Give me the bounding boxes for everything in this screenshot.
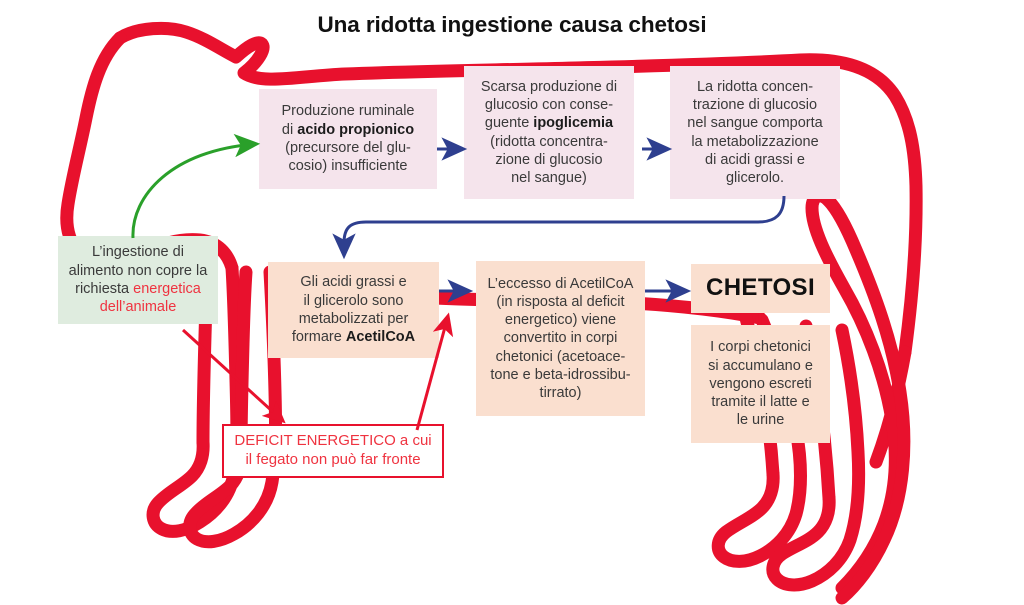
ipo-line-1: Scarsa produzione di [481, 78, 617, 96]
acido-propionico-term: acido propionico [297, 122, 414, 138]
acido-line-1: Produzione ruminale [282, 102, 415, 120]
ingestione-line-4: dell’animale [100, 298, 177, 316]
metab-line-1: La ridotta concen- [697, 78, 813, 96]
ipo-line-6: nel sangue) [511, 169, 587, 187]
escr-line-4: tramite il latte e [711, 393, 809, 411]
ipo-line-3-plain: guente [485, 115, 533, 131]
ipoglicemia-term: ipoglicemia [533, 115, 613, 131]
box-corpi-chetonici: L’eccesso di AcetilCoA (in risposta al d… [476, 261, 645, 416]
corpi-line-3: energetico) viene [505, 311, 616, 329]
acido-line-4: cosio) insufficiente [288, 157, 407, 175]
box-metabolizzazione: La ridotta concen- trazione di glucosio … [670, 66, 840, 199]
escr-line-1: I corpi chetonici [710, 338, 811, 356]
corpi-line-5: chetonici (acetoace- [496, 348, 626, 366]
escr-line-2: si accumulano e [708, 357, 813, 375]
ingestione-line-1: L’ingestione di [92, 243, 184, 261]
corpi-line-2: (in risposta al deficit [496, 293, 624, 311]
corpi-line-1: L’eccesso di AcetilCoA [488, 275, 634, 293]
acido-line-2-plain: di [282, 122, 297, 138]
acetilcoa-term: AcetilCoA [346, 329, 415, 345]
box-chetosi: CHETOSI [691, 264, 830, 313]
box-acetilcoa: Gli acidi grassi e il glicerolo sono met… [268, 262, 439, 358]
box-escrezione: I corpi chetonici si accumulano e vengon… [691, 325, 830, 443]
metab-line-6: glicerolo. [726, 169, 784, 187]
ipo-line-3: guente ipoglicemia [485, 114, 613, 132]
acetil-line-4: formare AcetilCoA [292, 328, 415, 346]
ingestione-line-3: richiesta energetica [75, 280, 201, 298]
corpi-line-6: tone e beta-idrossibu- [490, 366, 630, 384]
metab-line-5: di acidi grassi e [705, 151, 805, 169]
page-title: Una ridotta ingestione causa chetosi [0, 12, 1024, 38]
box-ipoglicemia: Scarsa produzione di glucosio con conse-… [464, 66, 634, 199]
acido-line-3: (precursore del glu- [285, 139, 411, 157]
acetil-line-1: Gli acidi grassi e [300, 273, 406, 291]
corpi-line-7: tirrato) [540, 384, 582, 402]
acetil-line-2: il glicerolo sono [304, 292, 404, 310]
corpi-line-4: convertito in corpi [504, 329, 618, 347]
acido-line-2: di acido propionico [282, 121, 414, 139]
ingestione-line-3-plain: richiesta [75, 281, 133, 297]
acetil-line-4-plain: formare [292, 329, 346, 345]
deficit-line-2: il fegato non può far fronte [245, 451, 420, 470]
ipo-line-2: glucosio con conse- [485, 96, 613, 114]
escr-line-5: le urine [737, 411, 785, 429]
acetil-line-3: metabolizzati per [299, 310, 409, 328]
metab-line-3: nel sangue comporta [687, 114, 822, 132]
ipo-line-4: (ridotta concentra- [490, 133, 608, 151]
box-deficit-energetico: DEFICIT ENERGETICO a cui il fegato non p… [222, 424, 444, 478]
ingestione-line-2: alimento non copre la [69, 262, 208, 280]
ingestione-line-3-red: energetica [133, 281, 201, 297]
box-ingestione-insufficiente: L’ingestione di alimento non copre la ri… [58, 236, 218, 324]
chetosi-label: CHETOSI [706, 273, 815, 303]
ipo-line-5: zione di glucosio [495, 151, 602, 169]
box-acido-propionico: Produzione ruminale di acido propionico … [259, 89, 437, 189]
deficit-line-1: DEFICIT ENERGETICO a cui [234, 432, 431, 451]
metab-line-4: la metabolizzazione [691, 133, 818, 151]
diagram-canvas: Una ridotta ingestione causa chetosi [0, 0, 1024, 605]
escr-line-3: vengono escreti [709, 375, 811, 393]
metab-line-2: trazione di glucosio [693, 96, 817, 114]
